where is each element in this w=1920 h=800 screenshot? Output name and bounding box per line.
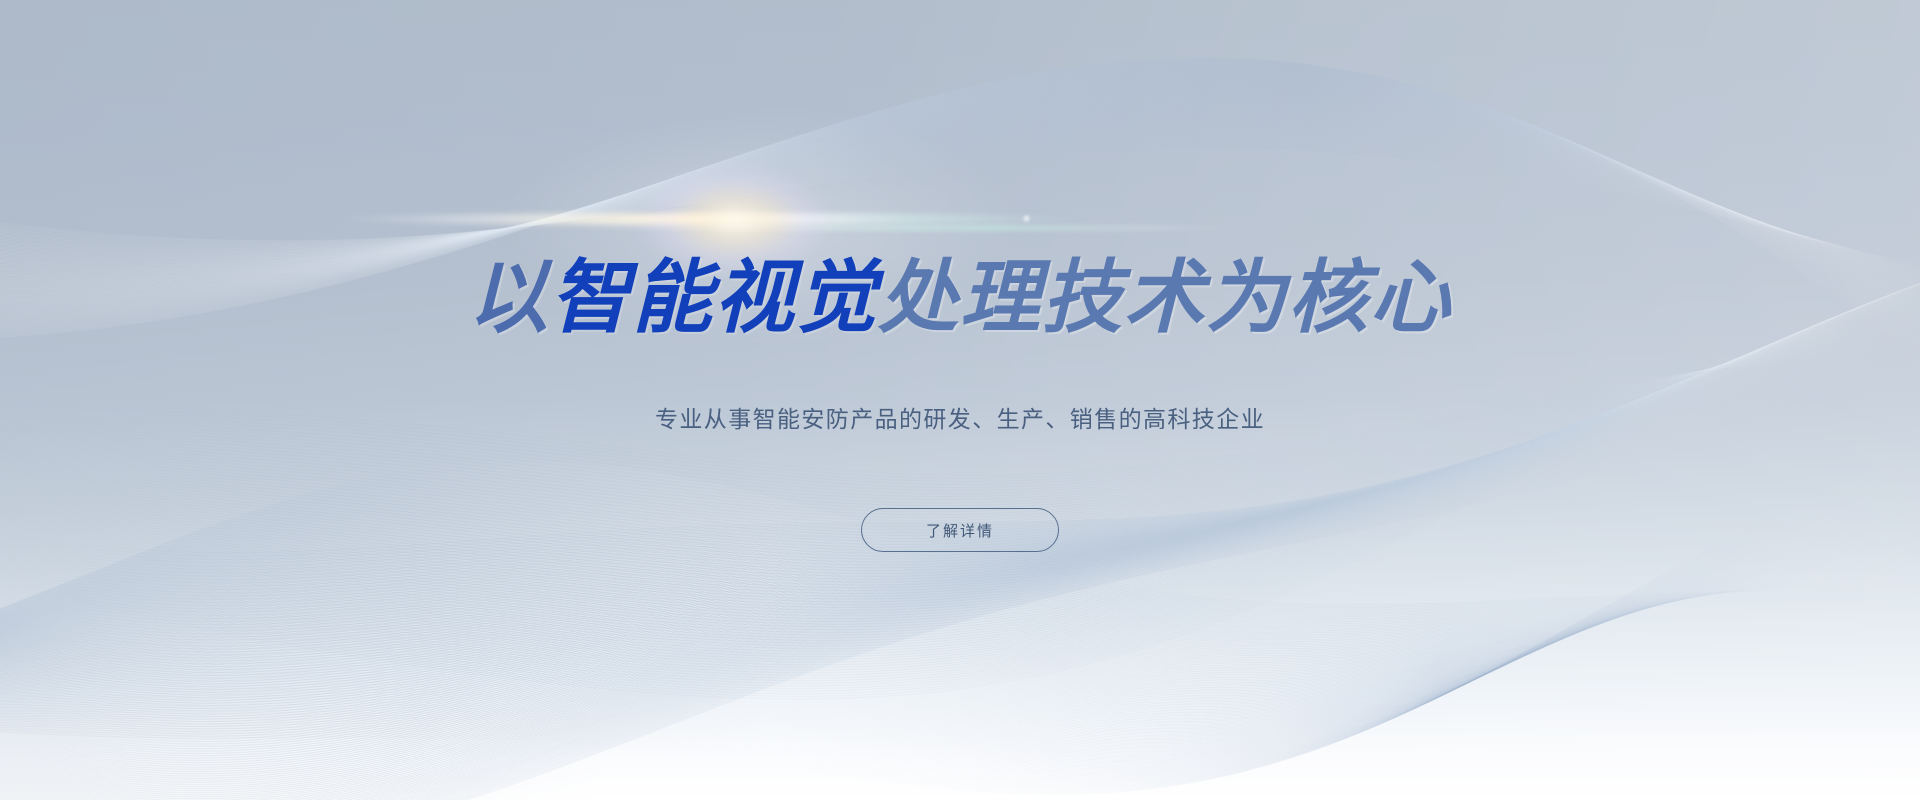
hero-banner: 以智能视觉处理技术为核心 专业从事智能安防产品的研发、生产、销售的高科技企业 了…	[0, 0, 1920, 800]
headline-segment-2: 智能视觉	[550, 251, 878, 344]
page-title: 以智能视觉处理技术为核心	[468, 258, 1452, 338]
page-subtitle: 专业从事智能安防产品的研发、生产、销售的高科技企业	[655, 400, 1265, 434]
hero-content: 以智能视觉处理技术为核心 专业从事智能安防产品的研发、生产、销售的高科技企业 了…	[0, 0, 1920, 800]
learn-more-button[interactable]: 了解详情	[861, 508, 1059, 552]
headline-segment-1: 以	[468, 251, 550, 344]
headline-segment-3: 处理技术为核心	[878, 251, 1452, 344]
